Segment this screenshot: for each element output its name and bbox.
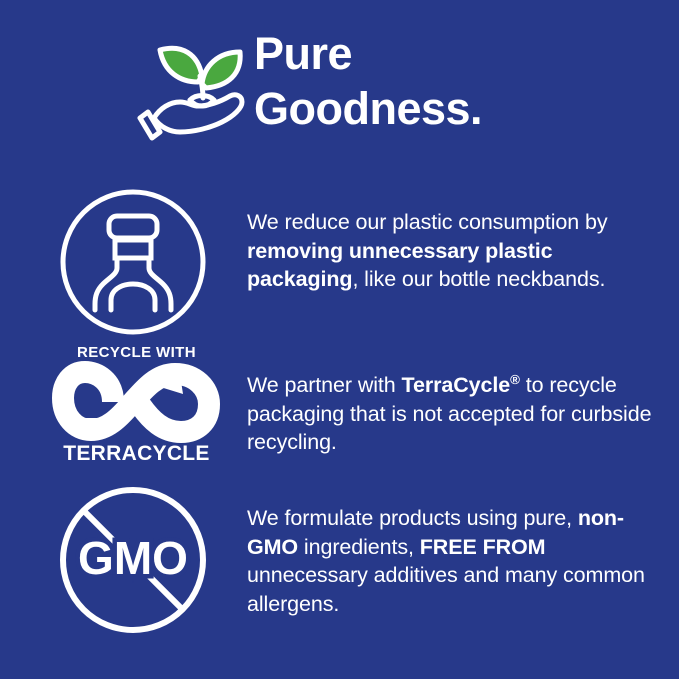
text-run: We formulate products using pure,: [247, 506, 578, 530]
registered-mark: ®: [510, 372, 520, 387]
terracycle-top-label: RECYCLE WITH: [59, 344, 214, 361]
text-run: unnecessary additives and many common al…: [247, 563, 645, 616]
text-run: ingredients,: [298, 535, 420, 559]
infinity-recycle-loop-icon: [59, 366, 214, 438]
pure-goodness-infographic: Pure Goodness. We reduce our plastic con…: [0, 0, 679, 679]
bottle-neckband-circle-icon: [59, 188, 207, 336]
text-run-bold: TerraCycle: [402, 373, 511, 397]
terracycle-badge-icon: RECYCLE WITH TERRACYCLE: [59, 344, 214, 472]
no-gmo-circle-icon: GMO: [59, 486, 207, 634]
brand-lockup: Pure Goodness.: [146, 30, 646, 155]
page-title: Pure Goodness.: [254, 26, 644, 136]
feature-text-gmo: We formulate products using pure, non-GM…: [247, 504, 665, 618]
feature-text-plastic: We reduce our plastic consumption by rem…: [247, 208, 665, 294]
text-run: We partner with: [247, 373, 402, 397]
hand-holding-sprout-icon: [146, 32, 258, 144]
feature-row-terracycle: RECYCLE WITH TERRACYCLE We partner with …: [0, 344, 679, 484]
feature-row-plastic: We reduce our plastic consumption by rem…: [0, 188, 679, 338]
feature-row-gmo: GMO We formulate products using pure, no…: [0, 486, 679, 636]
terracycle-bottom-label: TERRACYCLE: [59, 442, 214, 466]
text-run: We reduce our plastic consumption by: [247, 210, 608, 234]
feature-text-terracycle: We partner with TerraCycle® to recycle p…: [247, 366, 665, 457]
gmo-label: GMO: [78, 532, 188, 584]
text-run-bold: FREE FROM: [420, 535, 546, 559]
text-run: , like our bottle neckbands.: [352, 267, 605, 291]
